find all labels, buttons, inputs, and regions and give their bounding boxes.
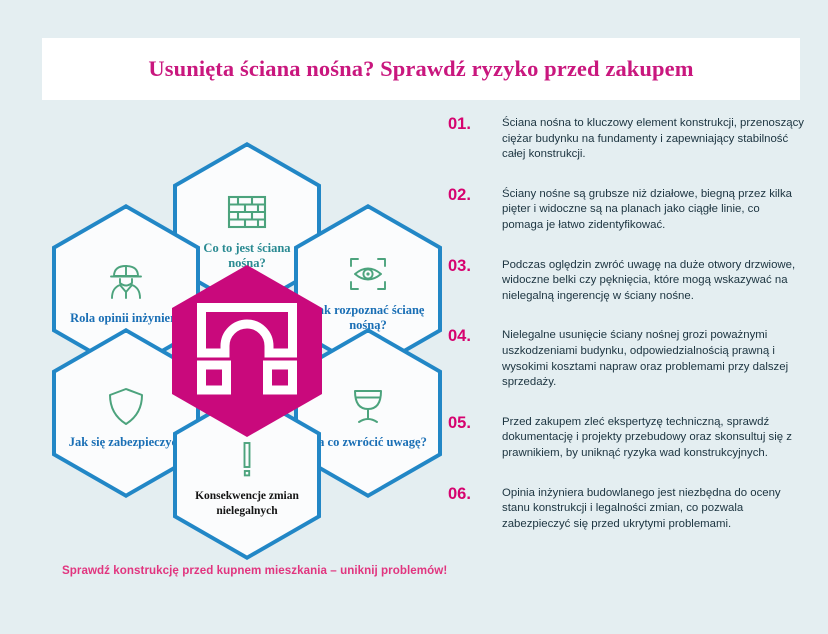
hex-label: Jak się zabezpieczyć? — [69, 435, 184, 450]
list-item: 03. Podczas oględzin zwróć uwagę na duże… — [448, 258, 804, 305]
eye-scan-icon — [346, 251, 390, 297]
load-bearing-wall-arch-icon — [195, 301, 299, 402]
brick-wall-icon — [225, 189, 269, 235]
list-item-text: Przed zakupem zleć ekspertyzę techniczną… — [502, 415, 804, 462]
list-item: 06. Opinia inżyniera budowlanego jest ni… — [448, 486, 804, 533]
hexagon-diagram: Co to jest ściana nośna? Rola opinii inż… — [52, 142, 442, 542]
footer-caption: Sprawdź konstrukcję przed kupnem mieszka… — [62, 564, 447, 577]
numbered-list: 01. Ściana nośna to kluczowy element kon… — [448, 116, 804, 556]
list-item-text: Ściany nośne są grubsze niż działowe, bi… — [502, 187, 804, 234]
exclamation-mark-icon — [225, 437, 269, 483]
hex-label: Rola opinii inżyniera — [70, 311, 182, 326]
list-item-number: 06. — [448, 486, 502, 503]
list-item-number: 02. — [448, 187, 502, 204]
list-item-text: Nielegalne usunięcie ściany nośnej grozi… — [502, 328, 804, 390]
list-item-number: 03. — [448, 258, 502, 275]
list-item: 01. Ściana nośna to kluczowy element kon… — [448, 116, 804, 163]
list-item-number: 01. — [448, 116, 502, 133]
list-item-text: Ściana nośna to kluczowy element konstru… — [502, 116, 804, 163]
list-item: 02. Ściany nośne są grubsze niż działowe… — [448, 187, 804, 234]
page-title: Usunięta ściana nośna? Sprawdź ryzyko pr… — [148, 56, 693, 82]
goblet-icon — [346, 383, 390, 429]
list-item-text: Opinia inżyniera budowlanego jest niezbę… — [502, 486, 804, 533]
list-item-text: Podczas oględzin zwróć uwagę na duże otw… — [502, 258, 804, 305]
hex-label: Konsekwencje zmian nielegalnych — [187, 489, 307, 519]
hex-label: Na co zwrócić uwagę? — [309, 435, 427, 450]
list-item: 05. Przed zakupem zleć ekspertyzę techni… — [448, 415, 804, 462]
title-band: Usunięta ściana nośna? Sprawdź ryzyko pr… — [42, 38, 800, 100]
engineer-hardhat-icon — [104, 259, 148, 305]
list-item-number: 04. — [448, 328, 502, 345]
shield-icon — [104, 383, 148, 429]
list-item: 04. Nielegalne usunięcie ściany nośnej g… — [448, 328, 804, 390]
list-item-number: 05. — [448, 415, 502, 432]
